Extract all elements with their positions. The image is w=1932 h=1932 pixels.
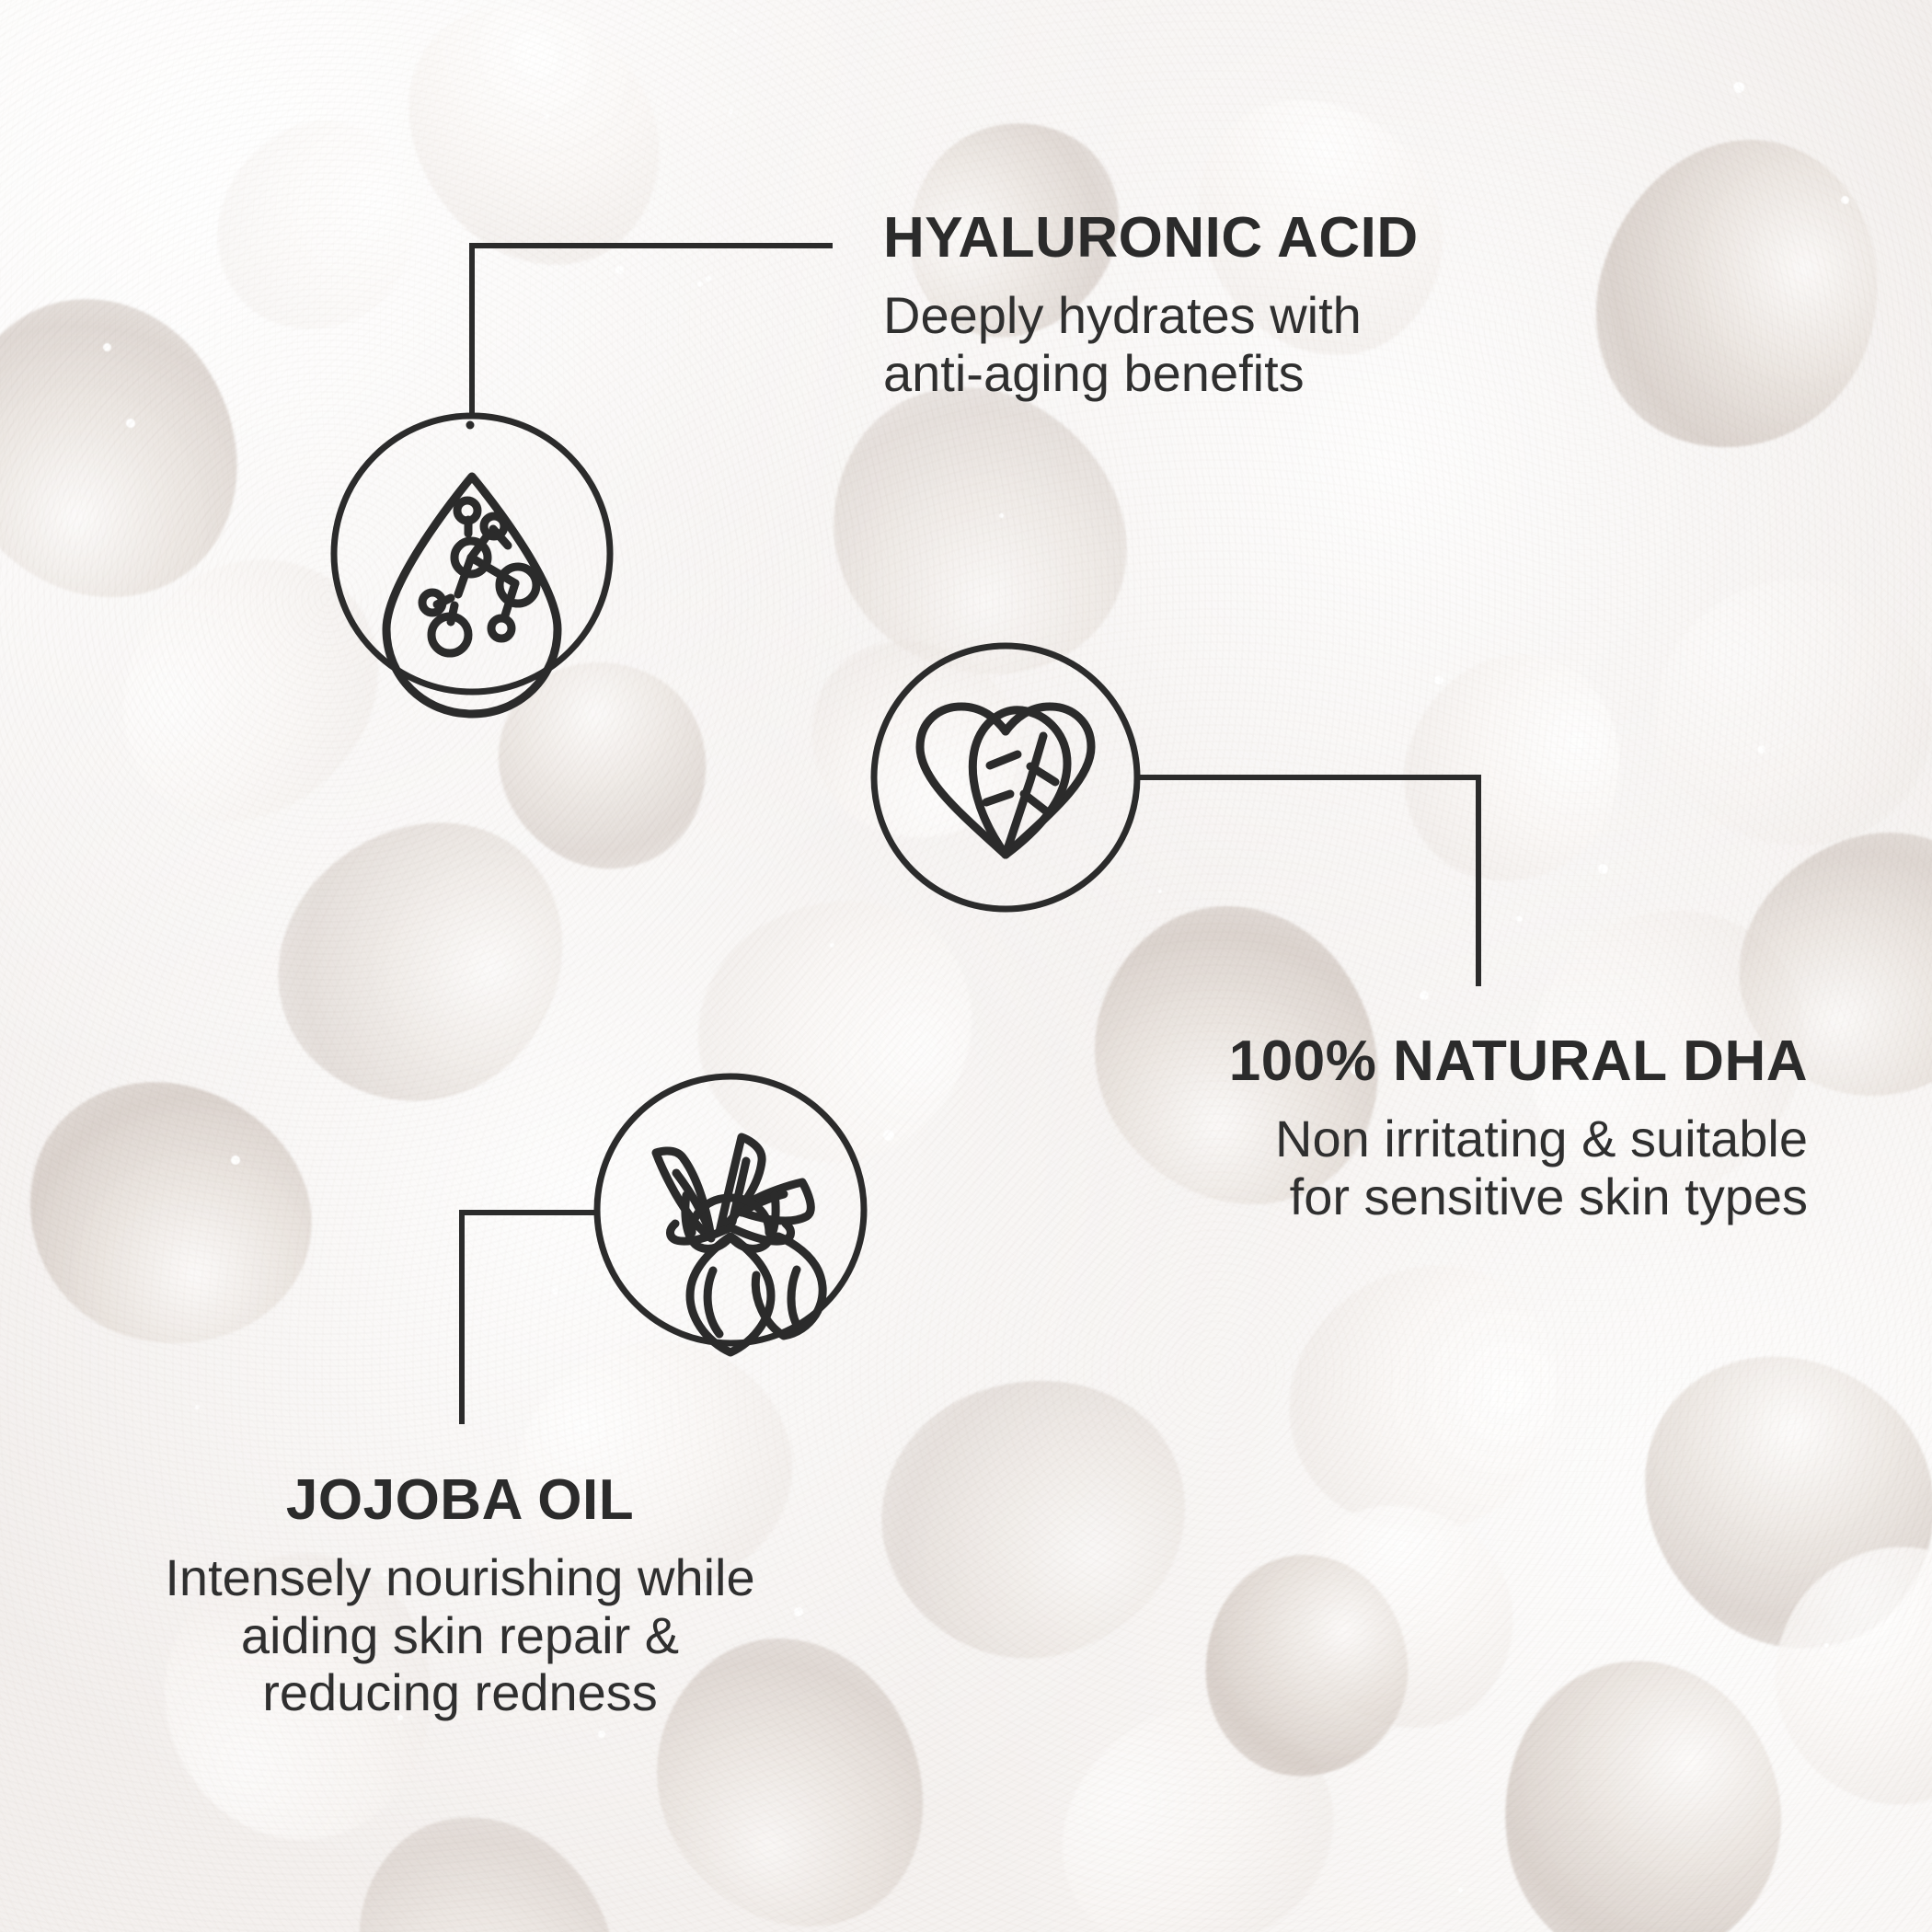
feature-text-jojoba-oil: JOJOBA OIL Intensely nourishing while ai…: [110, 1472, 810, 1722]
icon-badge-hyaluronic-acid: [334, 416, 610, 714]
feature-description-jojoba-oil: Intensely nourishing while aiding skin r…: [110, 1549, 810, 1722]
feature-text-hyaluronic-acid: HYALURONIC ACID Deeply hydrates with ant…: [883, 210, 1419, 402]
connector-hyaluronic-acid: [472, 246, 833, 416]
feature-title-jojoba-oil: JOJOBA OIL: [110, 1472, 810, 1529]
connector-jojoba-oil: [462, 1213, 597, 1424]
jojoba-seed-leaves-icon: [656, 1137, 822, 1352]
description-line: reducing redness: [262, 1663, 658, 1721]
feature-text-natural-dha: 100% NATURAL DHA Non irritating & suitab…: [1155, 1033, 1808, 1225]
heart-leaf-icon: [920, 707, 1091, 855]
feature-description-natural-dha: Non irritating & suitable for sensitive …: [1155, 1110, 1808, 1225]
description-line: for sensitive skin types: [1290, 1167, 1808, 1225]
feature-description-hyaluronic-acid: Deeply hydrates with anti-aging benefits: [883, 287, 1419, 402]
connector-natural-dha: [1137, 777, 1478, 986]
badge-ring: [874, 646, 1137, 909]
description-line: Deeply hydrates with: [883, 286, 1362, 344]
water-droplet-molecule-icon: [386, 425, 558, 714]
icon-badge-jojoba-oil: [597, 1076, 864, 1352]
feature-title-natural-dha: 100% NATURAL DHA: [1155, 1033, 1808, 1090]
icon-badge-natural-dha: [874, 646, 1137, 909]
description-line: Intensely nourishing while: [165, 1548, 754, 1606]
description-line: anti-aging benefits: [883, 344, 1305, 402]
feature-title-hyaluronic-acid: HYALURONIC ACID: [883, 210, 1419, 267]
infographic-canvas: HYALURONIC ACID Deeply hydrates with ant…: [0, 0, 1932, 1932]
description-line: aiding skin repair &: [241, 1606, 679, 1664]
description-line: Non irritating & suitable: [1275, 1110, 1808, 1167]
